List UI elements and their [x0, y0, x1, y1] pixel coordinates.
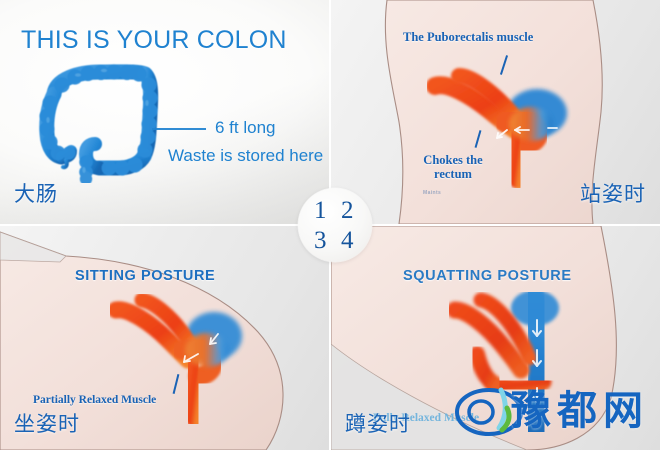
- panel-squatting-posture[interactable]: SQUATTING POSTURE: [331, 226, 660, 450]
- cn-label-panel-1: 大肠: [14, 178, 58, 208]
- panel-2-tiny-caption: Maints: [423, 190, 441, 196]
- panel-3-subtitle: Partially Relaxed Muscle: [33, 394, 156, 406]
- panel-3-title: SITTING POSTURE: [75, 268, 215, 284]
- panel-colon-overview[interactable]: THIS IS YOUR COLON: [0, 0, 329, 224]
- panel-1-title: THIS IS YOUR COLON: [21, 26, 287, 55]
- puborectalis-squatting-illustration: [449, 292, 589, 432]
- badge-number-4: 4: [341, 227, 354, 255]
- cn-label-panel-4: 蹲姿时: [345, 408, 411, 438]
- quadrant-number-badge: 1 2 3 4: [298, 188, 372, 262]
- colon-length-label: 6 ft long: [215, 118, 276, 138]
- badge-number-2: 2: [341, 197, 354, 225]
- cn-label-panel-3: 坐姿时: [14, 408, 80, 438]
- panel-sitting-posture[interactable]: SITTING POSTURE: [0, 226, 329, 450]
- panel-2-title: The Puborectalis muscle: [403, 30, 533, 45]
- screenshot-stage: THIS IS YOUR COLON: [0, 0, 660, 450]
- waste-storage-label: Waste is stored here: [168, 146, 323, 166]
- panel-standing-posture[interactable]: The Puborectalis muscle: [331, 0, 660, 224]
- length-leader-line: [152, 128, 206, 130]
- panel-2-subtitle: Chokes the rectum: [413, 154, 493, 181]
- colon-illustration-icon: [26, 58, 176, 183]
- badge-number-1: 1: [314, 197, 327, 225]
- cn-label-panel-2: 站姿时: [580, 178, 646, 208]
- badge-number-3: 3: [314, 227, 327, 255]
- panel-4-title: SQUATTING POSTURE: [403, 268, 572, 284]
